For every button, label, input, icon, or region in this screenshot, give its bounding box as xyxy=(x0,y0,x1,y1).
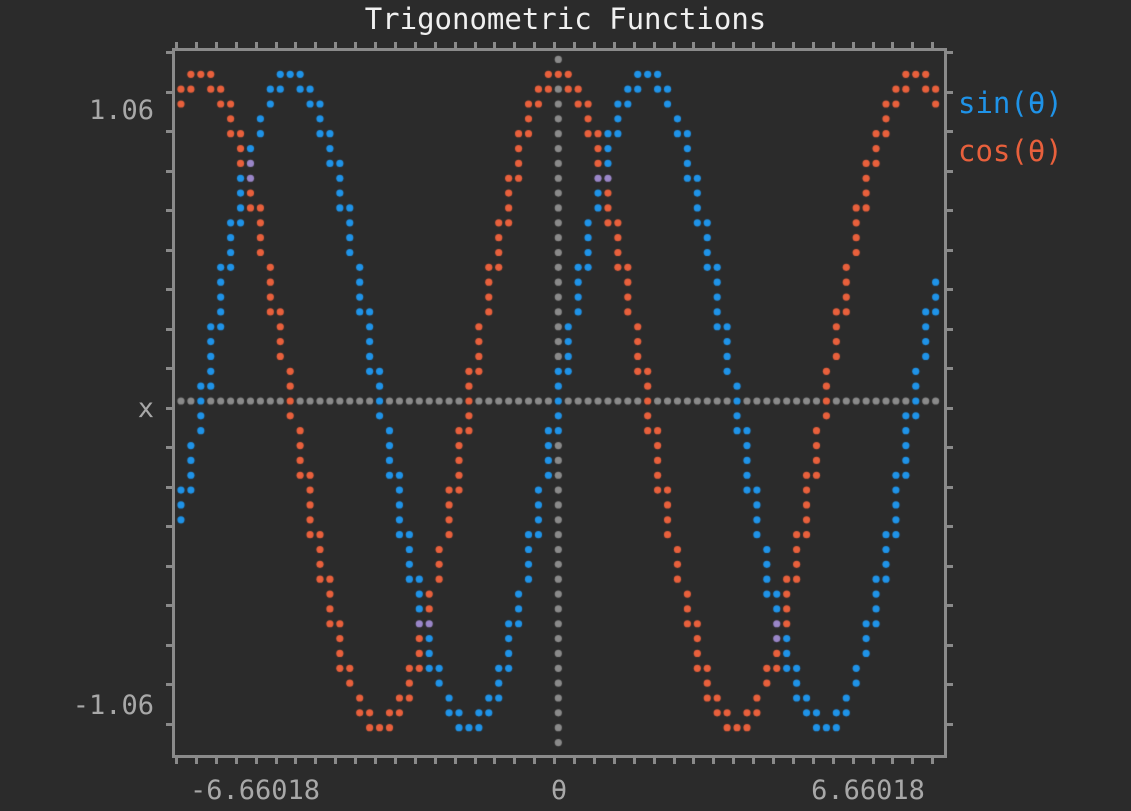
x-axis-tick-mark xyxy=(593,42,596,48)
x-axis-tick-mark xyxy=(235,42,238,48)
x-axis-tick-mark xyxy=(712,758,715,764)
x-axis-tick-mark xyxy=(772,758,775,764)
y-axis-tick-mark xyxy=(166,130,172,133)
y-axis-tick-mark xyxy=(947,486,953,489)
y-axis-tick-mark xyxy=(947,170,953,173)
x-axis-tick-mark xyxy=(911,42,914,48)
x-axis-tick-mark xyxy=(613,42,616,48)
y-axis-tick-mark xyxy=(166,91,172,94)
x-axis-tick-mark xyxy=(354,42,357,48)
x-axis-tick-mark xyxy=(215,42,218,48)
x-axis-tick-mark xyxy=(215,758,218,764)
x-axis-tick-mark xyxy=(334,758,337,764)
x-axis-tick-mark xyxy=(394,42,397,48)
y-axis-tick-mark xyxy=(166,683,172,686)
y-axis-tick-mark xyxy=(947,407,953,410)
y-axis-tick-mark xyxy=(166,407,172,410)
y-axis-tick-mark xyxy=(947,565,953,568)
x-axis-tick-mark xyxy=(275,758,278,764)
x-axis-tick-mark xyxy=(454,758,457,764)
x-axis-tick-mark xyxy=(673,42,676,48)
x-axis-tick-mark xyxy=(374,42,377,48)
x-axis-tick-mark xyxy=(633,42,636,48)
y-axis-tick-mark xyxy=(166,51,172,54)
x-axis-tick-mark xyxy=(474,758,477,764)
x-axis-tick-mark xyxy=(792,758,795,764)
x-axis-tick-mark xyxy=(673,758,676,764)
x-axis-tick-mark xyxy=(414,42,417,48)
y-axis-tick-mark xyxy=(166,644,172,647)
x-axis-tick-mark xyxy=(653,42,656,48)
x-axis-tick-mark xyxy=(175,758,178,764)
x-axis-tick-mark xyxy=(613,758,616,764)
x-axis-tick-mark xyxy=(334,42,337,48)
x-axis-tick-mark xyxy=(294,42,297,48)
y-axis-tick-mark xyxy=(166,723,172,726)
legend-item-sin[interactable]: sin(θ) xyxy=(958,86,1063,120)
y-axis-tick-mark xyxy=(166,486,172,489)
x-axis-tick-mark xyxy=(772,42,775,48)
x-axis-tick-right: 6.66018 xyxy=(738,775,998,806)
y-axis-tick-mark xyxy=(166,525,172,528)
x-axis-tick-mark xyxy=(573,758,576,764)
x-axis-tick-mark xyxy=(513,42,516,48)
x-axis-tick-mark xyxy=(553,758,556,764)
y-axis-tick-mark xyxy=(947,249,953,252)
y-axis-tick-mark xyxy=(166,565,172,568)
x-axis-tick-mark xyxy=(852,42,855,48)
x-axis-tick-mark xyxy=(911,758,914,764)
y-axis-tick-mark xyxy=(947,525,953,528)
y-axis-tick-mark xyxy=(947,328,953,331)
x-axis-tick-left: -6.66018 xyxy=(125,775,385,806)
y-axis-tick-mark xyxy=(166,604,172,607)
x-axis-tick-mark xyxy=(414,758,417,764)
x-axis-tick-mark xyxy=(792,42,795,48)
x-axis-tick-mark xyxy=(513,758,516,764)
x-axis-tick-mark xyxy=(752,42,755,48)
x-axis-tick-mark xyxy=(374,758,377,764)
x-axis-tick-mark xyxy=(732,758,735,764)
x-axis-tick-mark xyxy=(314,758,317,764)
x-axis-tick-mark xyxy=(852,758,855,764)
x-axis-tick-mark xyxy=(454,42,457,48)
x-axis-tick-mark xyxy=(255,42,258,48)
x-axis-tick-mark xyxy=(633,758,636,764)
x-axis-tick-mark xyxy=(832,42,835,48)
x-axis-tick-mark xyxy=(891,758,894,764)
x-axis-tick-mark xyxy=(195,758,198,764)
x-axis-tick-mark xyxy=(434,758,437,764)
y-axis-tick-mark xyxy=(166,288,172,291)
x-axis-tick-mark xyxy=(573,42,576,48)
y-axis-tick-mark xyxy=(166,328,172,331)
x-axis-tick-mark xyxy=(931,42,934,48)
y-axis-tick-mark xyxy=(947,367,953,370)
x-axis-tick-mark xyxy=(314,42,317,48)
x-axis-tick-mark xyxy=(872,758,875,764)
x-axis-tick-mark xyxy=(872,42,875,48)
y-axis-tick-mark xyxy=(166,367,172,370)
y-axis-tick-mark xyxy=(947,446,953,449)
y-axis-tick-mark xyxy=(166,209,172,212)
y-axis-tick-mark xyxy=(947,209,953,212)
y-axis-tick-mark xyxy=(947,91,953,94)
y-axis-tick-mark xyxy=(947,130,953,133)
x-axis-tick-mark xyxy=(533,42,536,48)
x-axis-tick-mark xyxy=(692,758,695,764)
x-axis-tick-mark xyxy=(891,42,894,48)
x-axis-tick-mark xyxy=(752,758,755,764)
y-axis-tick-bottom: -1.06 xyxy=(34,690,154,721)
x-axis-tick-mark xyxy=(712,42,715,48)
x-axis-tick-mark xyxy=(255,758,258,764)
y-axis-tick-mark xyxy=(947,288,953,291)
legend-item-cos[interactable]: cos(θ) xyxy=(958,134,1063,168)
x-axis-tick-mark xyxy=(812,42,815,48)
x-axis-tick-mark xyxy=(931,758,934,764)
x-axis-tick-mark xyxy=(533,758,536,764)
x-axis-tick-mark xyxy=(195,42,198,48)
y-axis-tick-mark xyxy=(947,723,953,726)
y-axis-tick-mark xyxy=(947,604,953,607)
y-axis-tick-mark xyxy=(947,683,953,686)
y-axis-tick-mark xyxy=(166,446,172,449)
y-axis-tick-mark xyxy=(947,51,953,54)
x-axis-tick-mark xyxy=(275,42,278,48)
x-axis-tick-mark xyxy=(812,758,815,764)
x-axis-tick-mark xyxy=(235,758,238,764)
x-axis-tick-mark xyxy=(593,758,596,764)
x-axis-tick-mark xyxy=(175,42,178,48)
x-axis-tick-mark xyxy=(474,42,477,48)
x-axis-tick-mark xyxy=(692,42,695,48)
y-axis-tick-mark xyxy=(166,249,172,252)
x-axis-tick-mark xyxy=(394,758,397,764)
y-axis-tick-mark xyxy=(166,170,172,173)
x-axis-tick-mark xyxy=(653,758,656,764)
x-axis-tick-mark xyxy=(434,42,437,48)
x-axis-tick-mark xyxy=(832,758,835,764)
x-axis-tick-mark xyxy=(294,758,297,764)
y-axis-tick-mid: x xyxy=(34,393,154,424)
plot-frame xyxy=(172,48,947,758)
x-axis-tick-mark xyxy=(732,42,735,48)
y-axis-tick-mark xyxy=(947,644,953,647)
x-axis-tick-mark xyxy=(354,758,357,764)
x-axis-tick-mid: θ xyxy=(429,775,689,806)
x-axis-tick-mark xyxy=(493,758,496,764)
x-axis-tick-mark xyxy=(553,42,556,48)
x-axis-tick-mark xyxy=(493,42,496,48)
y-axis-tick-top: 1.06 xyxy=(34,95,154,126)
